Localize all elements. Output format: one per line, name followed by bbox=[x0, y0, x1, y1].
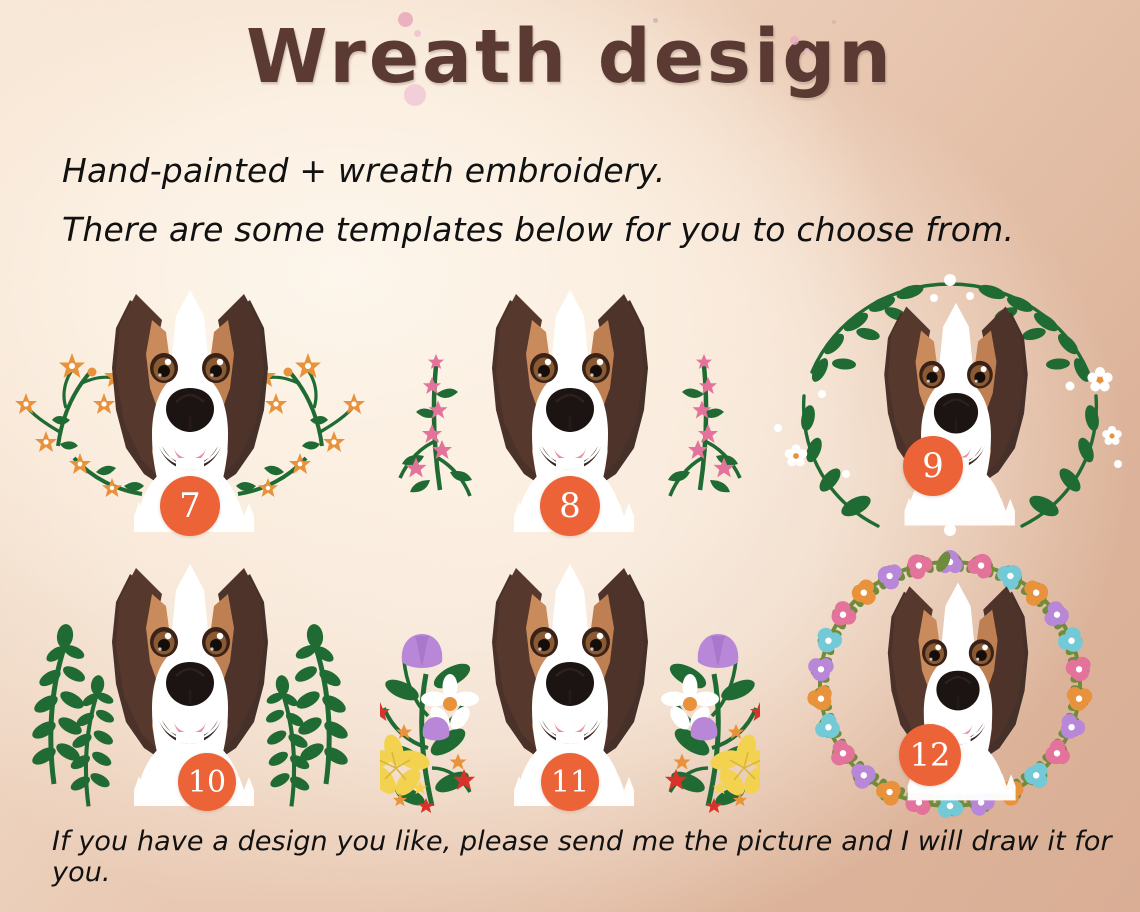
design-card-9[interactable]: 9 bbox=[760, 268, 1140, 544]
subtitle-block: Hand-painted + wreath embroidery. There … bbox=[62, 142, 1102, 259]
wreath-flower bbox=[1063, 655, 1094, 685]
design-card-12[interactable]: 12 bbox=[760, 544, 1140, 820]
flora-left-10 bbox=[29, 623, 115, 806]
design-badge-8[interactable]: 8 bbox=[540, 476, 600, 536]
design-badge-label-8: 8 bbox=[559, 486, 581, 526]
design-card-7[interactable]: 7 bbox=[0, 268, 380, 544]
wreath-flower bbox=[901, 548, 935, 582]
wreath-flower bbox=[874, 560, 904, 591]
flora-right-10 bbox=[264, 623, 350, 806]
design-card-8[interactable]: 8 bbox=[380, 268, 760, 544]
design-badge-label-9: 9 bbox=[922, 446, 944, 486]
flora-right-8 bbox=[668, 354, 740, 496]
design-badge-label-10: 10 bbox=[188, 765, 226, 800]
design-badge-10[interactable]: 10 bbox=[178, 753, 236, 811]
flora-left-8 bbox=[400, 354, 472, 496]
design-card-10[interactable]: 10 bbox=[0, 544, 380, 820]
design-badge-9[interactable]: 9 bbox=[903, 436, 963, 496]
flora-left-11 bbox=[380, 634, 479, 813]
wreath-design-poster: Wreath design Hand-painted + wreath embr… bbox=[0, 0, 1140, 912]
design-card-11[interactable]: 11 bbox=[380, 544, 760, 820]
design-grid: 7 8 bbox=[0, 268, 1140, 820]
design-badge-label-12: 12 bbox=[910, 736, 951, 774]
wreath-flower bbox=[808, 658, 833, 681]
design-badge-label-7: 7 bbox=[179, 486, 201, 526]
footer-note: If you have a design you like, please se… bbox=[52, 826, 1112, 888]
design-badge-11[interactable]: 11 bbox=[541, 753, 599, 811]
subtitle-line-1: Hand-painted + wreath embroidery. bbox=[62, 142, 1102, 201]
design-art-9 bbox=[760, 268, 1140, 544]
subtitle-line-2: There are some templates below for you t… bbox=[62, 201, 1102, 260]
title-area: Wreath design bbox=[0, 14, 1140, 100]
flora-right-11 bbox=[661, 634, 760, 813]
design-badge-7[interactable]: 7 bbox=[160, 476, 220, 536]
wreath-flower bbox=[994, 559, 1028, 593]
page-title: Wreath design bbox=[246, 14, 894, 100]
dog-portrait-9 bbox=[884, 303, 1028, 526]
design-badge-12[interactable]: 12 bbox=[899, 724, 961, 786]
design-badge-label-11: 11 bbox=[551, 765, 589, 800]
